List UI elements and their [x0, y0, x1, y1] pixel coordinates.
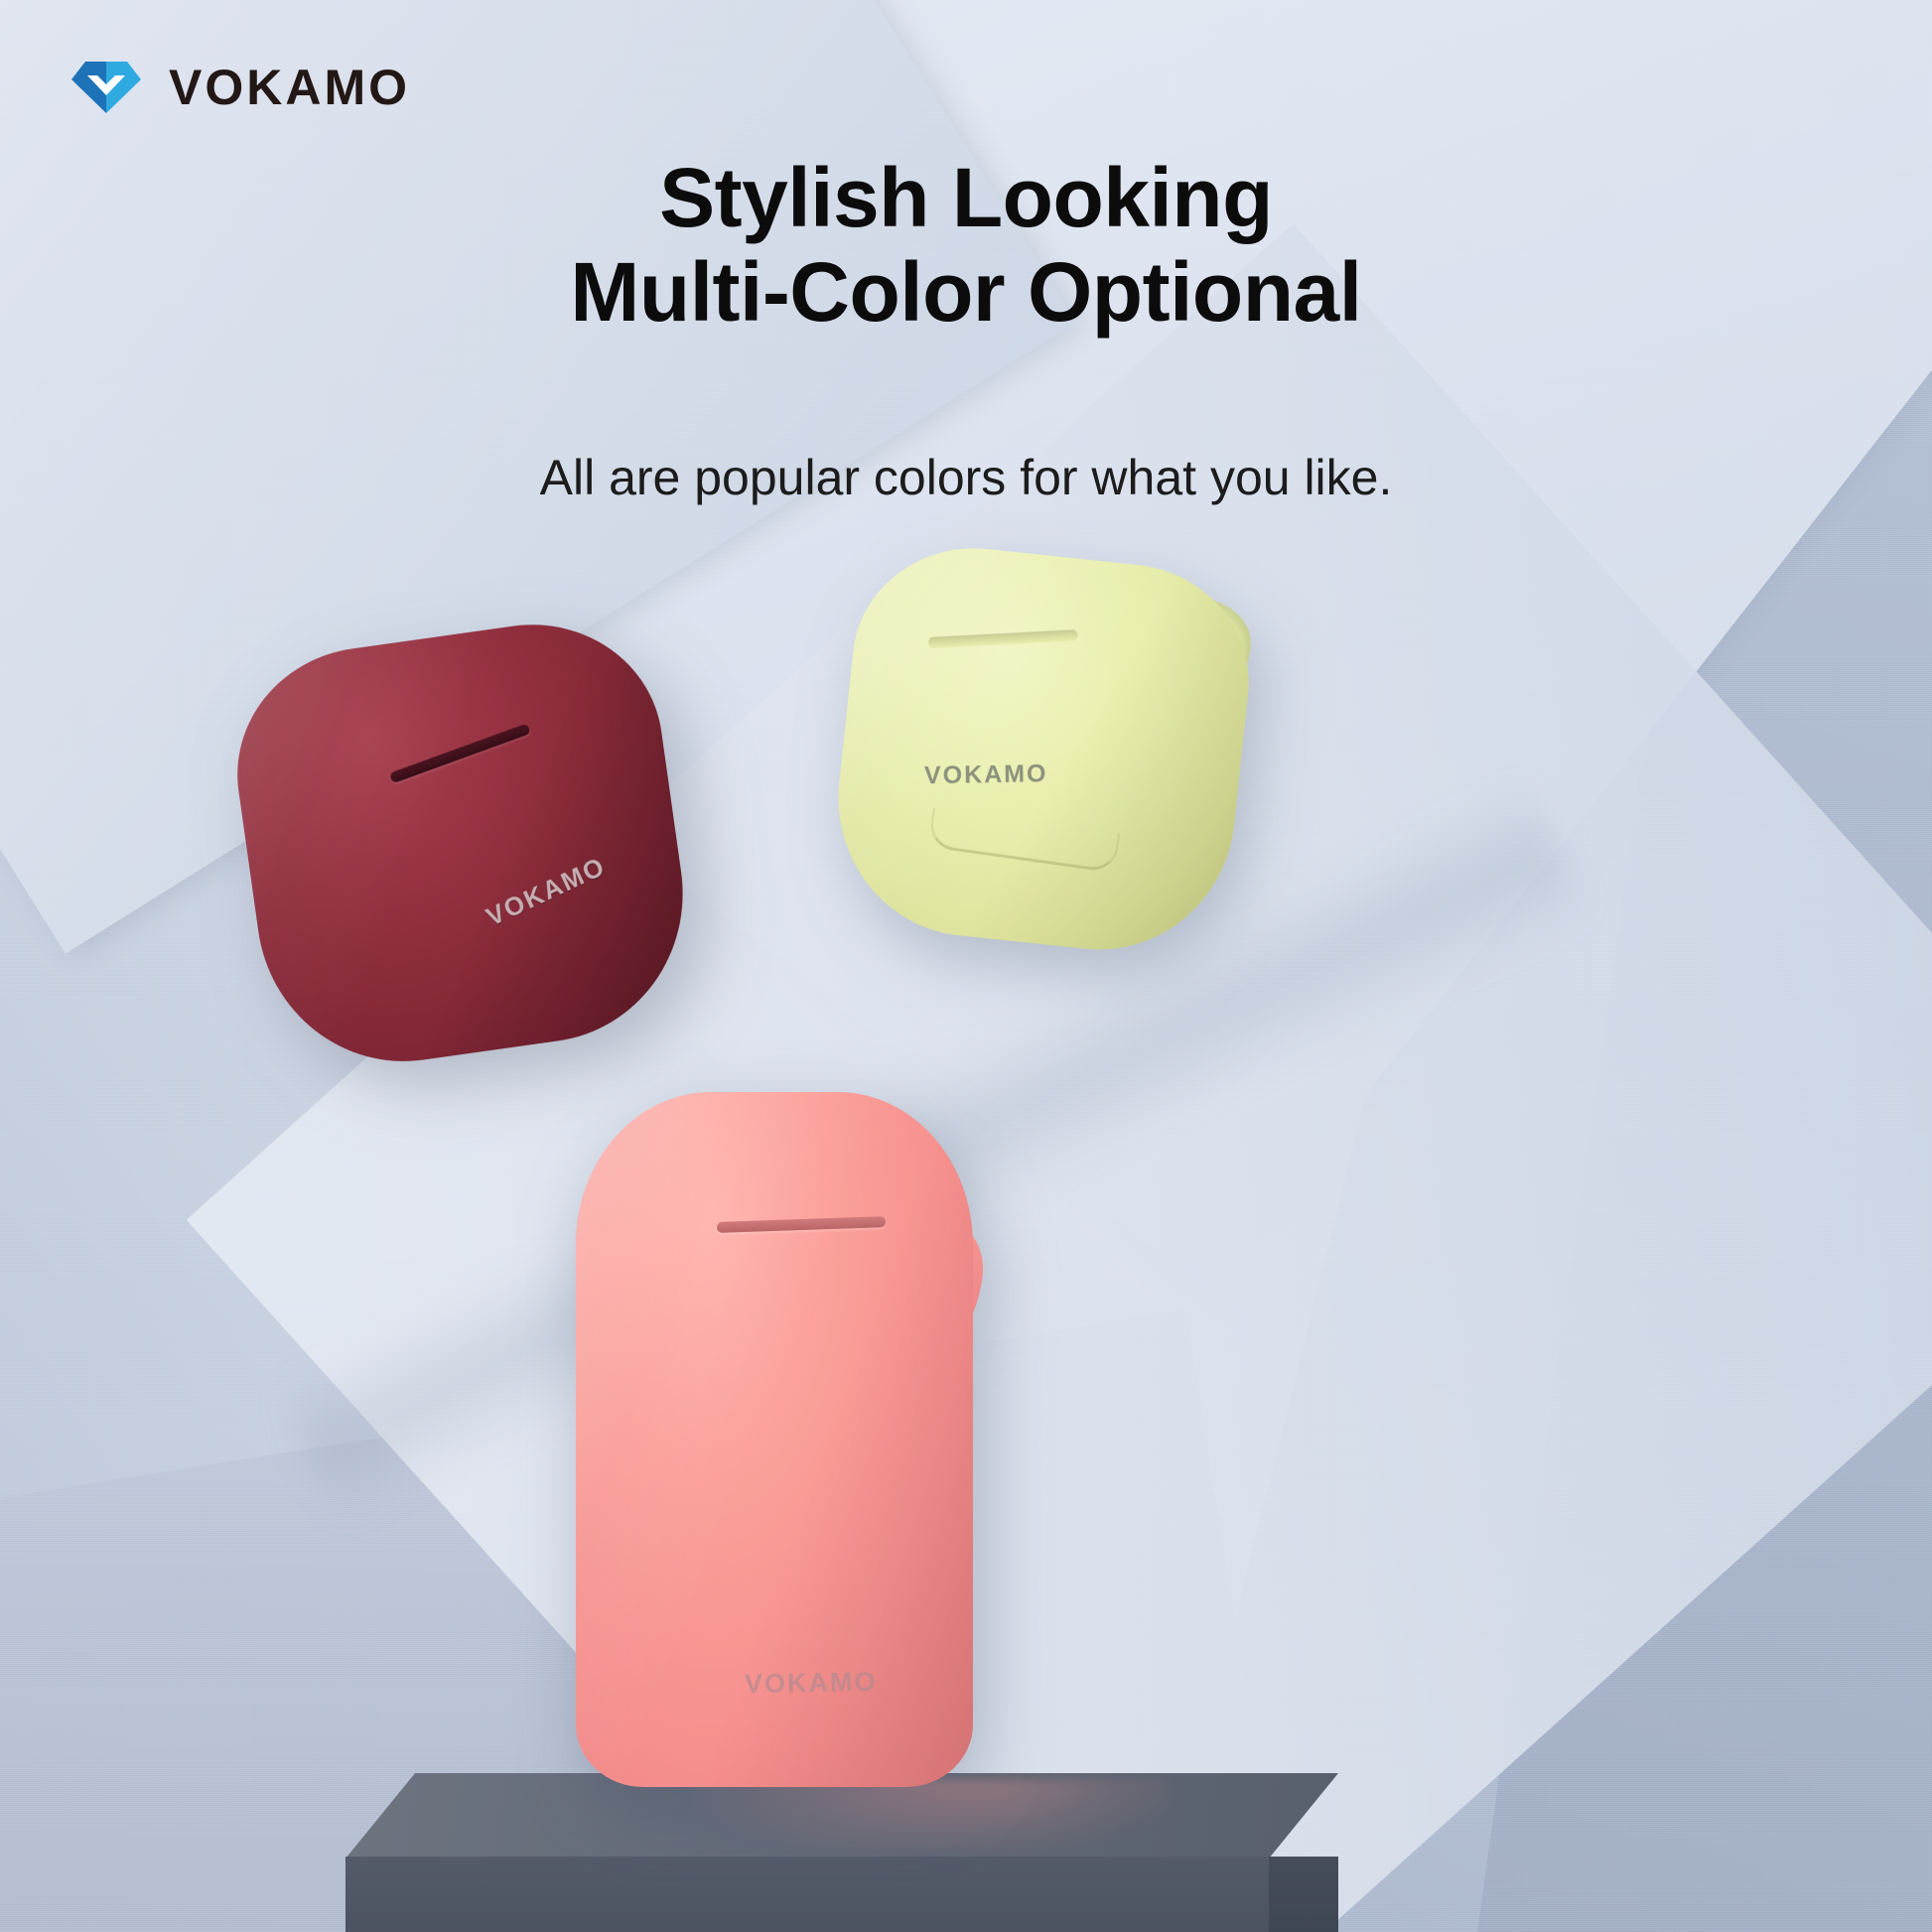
product-case-pink[interactable]: VOKAMO — [576, 1092, 973, 1787]
case-brand-emboss: VOKAMO — [924, 759, 1048, 790]
pedestal-reflection — [695, 1779, 1172, 1853]
case-brand-emboss: VOKAMO — [745, 1667, 878, 1700]
pedestal-front-face — [345, 1857, 1269, 1932]
case-body — [825, 536, 1261, 963]
pedestal-right-face — [1269, 1857, 1338, 1932]
diamond-gem-icon — [69, 58, 143, 117]
headline-line-1: Stylish Looking — [659, 151, 1273, 244]
case-body — [221, 608, 702, 1080]
page-subtitle: All are popular colors for what you like… — [0, 449, 1932, 506]
headline-line-2: Multi-Color Optional — [0, 245, 1932, 340]
product-case-pale-yellow[interactable]: VOKAMO — [825, 536, 1261, 963]
page-title: Stylish Looking Multi-Color Optional — [0, 151, 1932, 340]
case-sheen — [825, 536, 1261, 963]
brand-logo: VOKAMO — [69, 58, 410, 117]
product-pedestal — [0, 1773, 1932, 1932]
product-case-wine-red[interactable]: VOKAMO — [221, 608, 702, 1080]
marketing-banner: VOKAMO Stylish Looking Multi-Color Optio… — [0, 0, 1932, 1932]
brand-name: VOKAMO — [169, 59, 410, 116]
case-sheen — [221, 608, 702, 1080]
